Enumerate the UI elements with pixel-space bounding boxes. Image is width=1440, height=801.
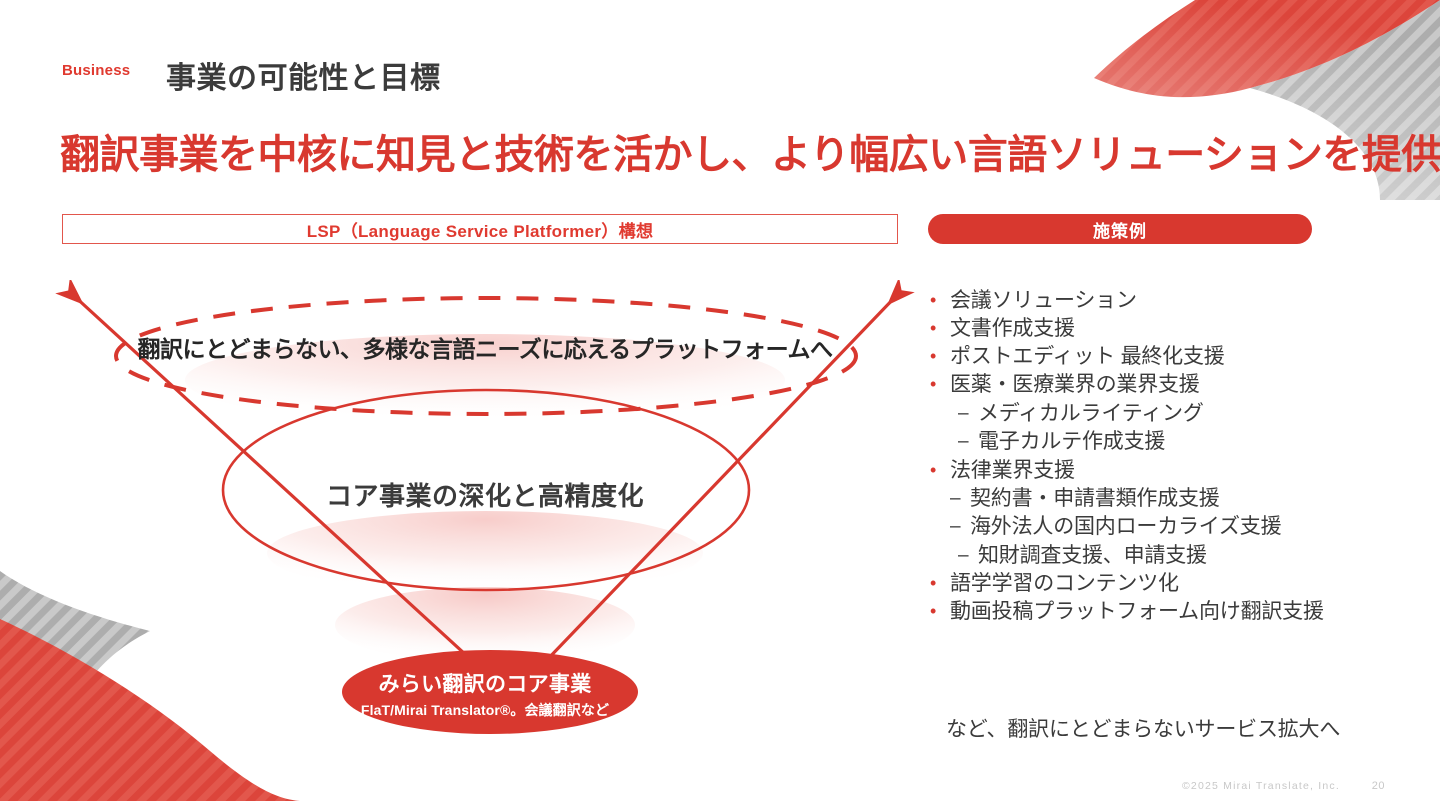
measures-list-item-label: 契約書・申請書類作成支援 [970, 485, 1370, 513]
measures-list-item: •医薬・医療業界の業界支援 [930, 371, 1370, 399]
measures-list-item: –メディカルライティング [930, 400, 1370, 429]
funnel-core-ellipse [342, 650, 638, 734]
headline: 翻訳事業を中核に知見と技術を活かし、より幅広い言語ソリューションを提供 [60, 122, 1440, 180]
bullet-dot-icon: • [930, 371, 950, 398]
footer-page-number: 20 [1372, 780, 1385, 792]
measures-list-item-label: 会議ソリューション [950, 287, 1370, 315]
measures-list-item: •会議ソリューション [930, 287, 1370, 315]
measures-list-item: –知財調査支援、申請支援 [930, 542, 1370, 571]
measures-list-item: •動画投稿プラットフォーム向け翻訳支援 [930, 598, 1370, 626]
measures-list-item: •ポストエディット 最終化支援 [930, 343, 1370, 371]
bullet-dot-icon: • [930, 598, 950, 625]
measures-list-item: –契約書・申請書類作成支援 [930, 485, 1370, 514]
page-title: 事業の可能性と目標 [166, 53, 441, 97]
dash-icon: – [958, 542, 978, 571]
bullet-dot-icon: • [930, 343, 950, 370]
measures-list: •会議ソリューション•文書作成支援•ポストエディット 最終化支援•医薬・医療業界… [930, 287, 1370, 626]
measures-header-label: 施策例 [1093, 217, 1147, 242]
measures-list-item-label: 医薬・医療業界の業界支援 [950, 371, 1370, 399]
closing-note: など、翻訳にとどまらないサービス拡大へ [946, 713, 1386, 743]
bullet-dot-icon: • [930, 457, 950, 484]
slide-canvas: Business 事業の可能性と目標 翻訳事業を中核に知見と技術を活かし、より幅… [0, 0, 1440, 801]
dash-icon: – [950, 513, 970, 542]
eyebrow-label: Business [62, 62, 130, 79]
measures-list-item-label: 海外法人の国内ローカライズ支援 [970, 513, 1370, 541]
dash-icon: – [958, 400, 978, 429]
measures-list-item: –海外法人の国内ローカライズ支援 [930, 513, 1370, 542]
measures-list-item-label: メディカルライティング [978, 400, 1370, 428]
lsp-concept-header-label: LSP（Language Service Platformer）構想 [307, 217, 654, 242]
measures-list-item-label: ポストエディット 最終化支援 [950, 343, 1370, 371]
bullet-dot-icon: • [930, 570, 950, 597]
measures-list-item: •法律業界支援 [930, 457, 1370, 485]
measures-list-item: –電子カルテ作成支援 [930, 428, 1370, 457]
measures-list-item-label: 文書作成支援 [950, 315, 1370, 343]
decoration-red-wave [1094, 0, 1440, 97]
measures-list-item-label: 法律業界支援 [950, 457, 1370, 485]
footer-copyright: ©2025 Mirai Translate, Inc. [1182, 780, 1340, 792]
lsp-concept-header: LSP（Language Service Platformer）構想 [62, 214, 898, 244]
measures-list-item: •語学学習のコンテンツ化 [930, 570, 1370, 598]
dash-icon: – [958, 428, 978, 457]
measures-list-item-label: 動画投稿プラットフォーム向け翻訳支援 [950, 598, 1370, 626]
funnel-graphic [50, 280, 920, 740]
funnel-shading [185, 334, 785, 663]
dash-icon: – [950, 485, 970, 514]
measures-header-pill: 施策例 [928, 214, 1312, 244]
bullet-dot-icon: • [930, 287, 950, 314]
measures-list-item: •文書作成支援 [930, 315, 1370, 343]
funnel-diagram: 翻訳にとどまらない、多様な言語ニーズに応えるプラットフォームへ コア事業の深化と… [50, 280, 920, 740]
measures-list-item-label: 電子カルテ作成支援 [978, 428, 1370, 456]
measures-list-item-label: 語学学習のコンテンツ化 [950, 570, 1370, 598]
measures-list-item-label: 知財調査支援、申請支援 [978, 542, 1370, 570]
bullet-dot-icon: • [930, 315, 950, 342]
